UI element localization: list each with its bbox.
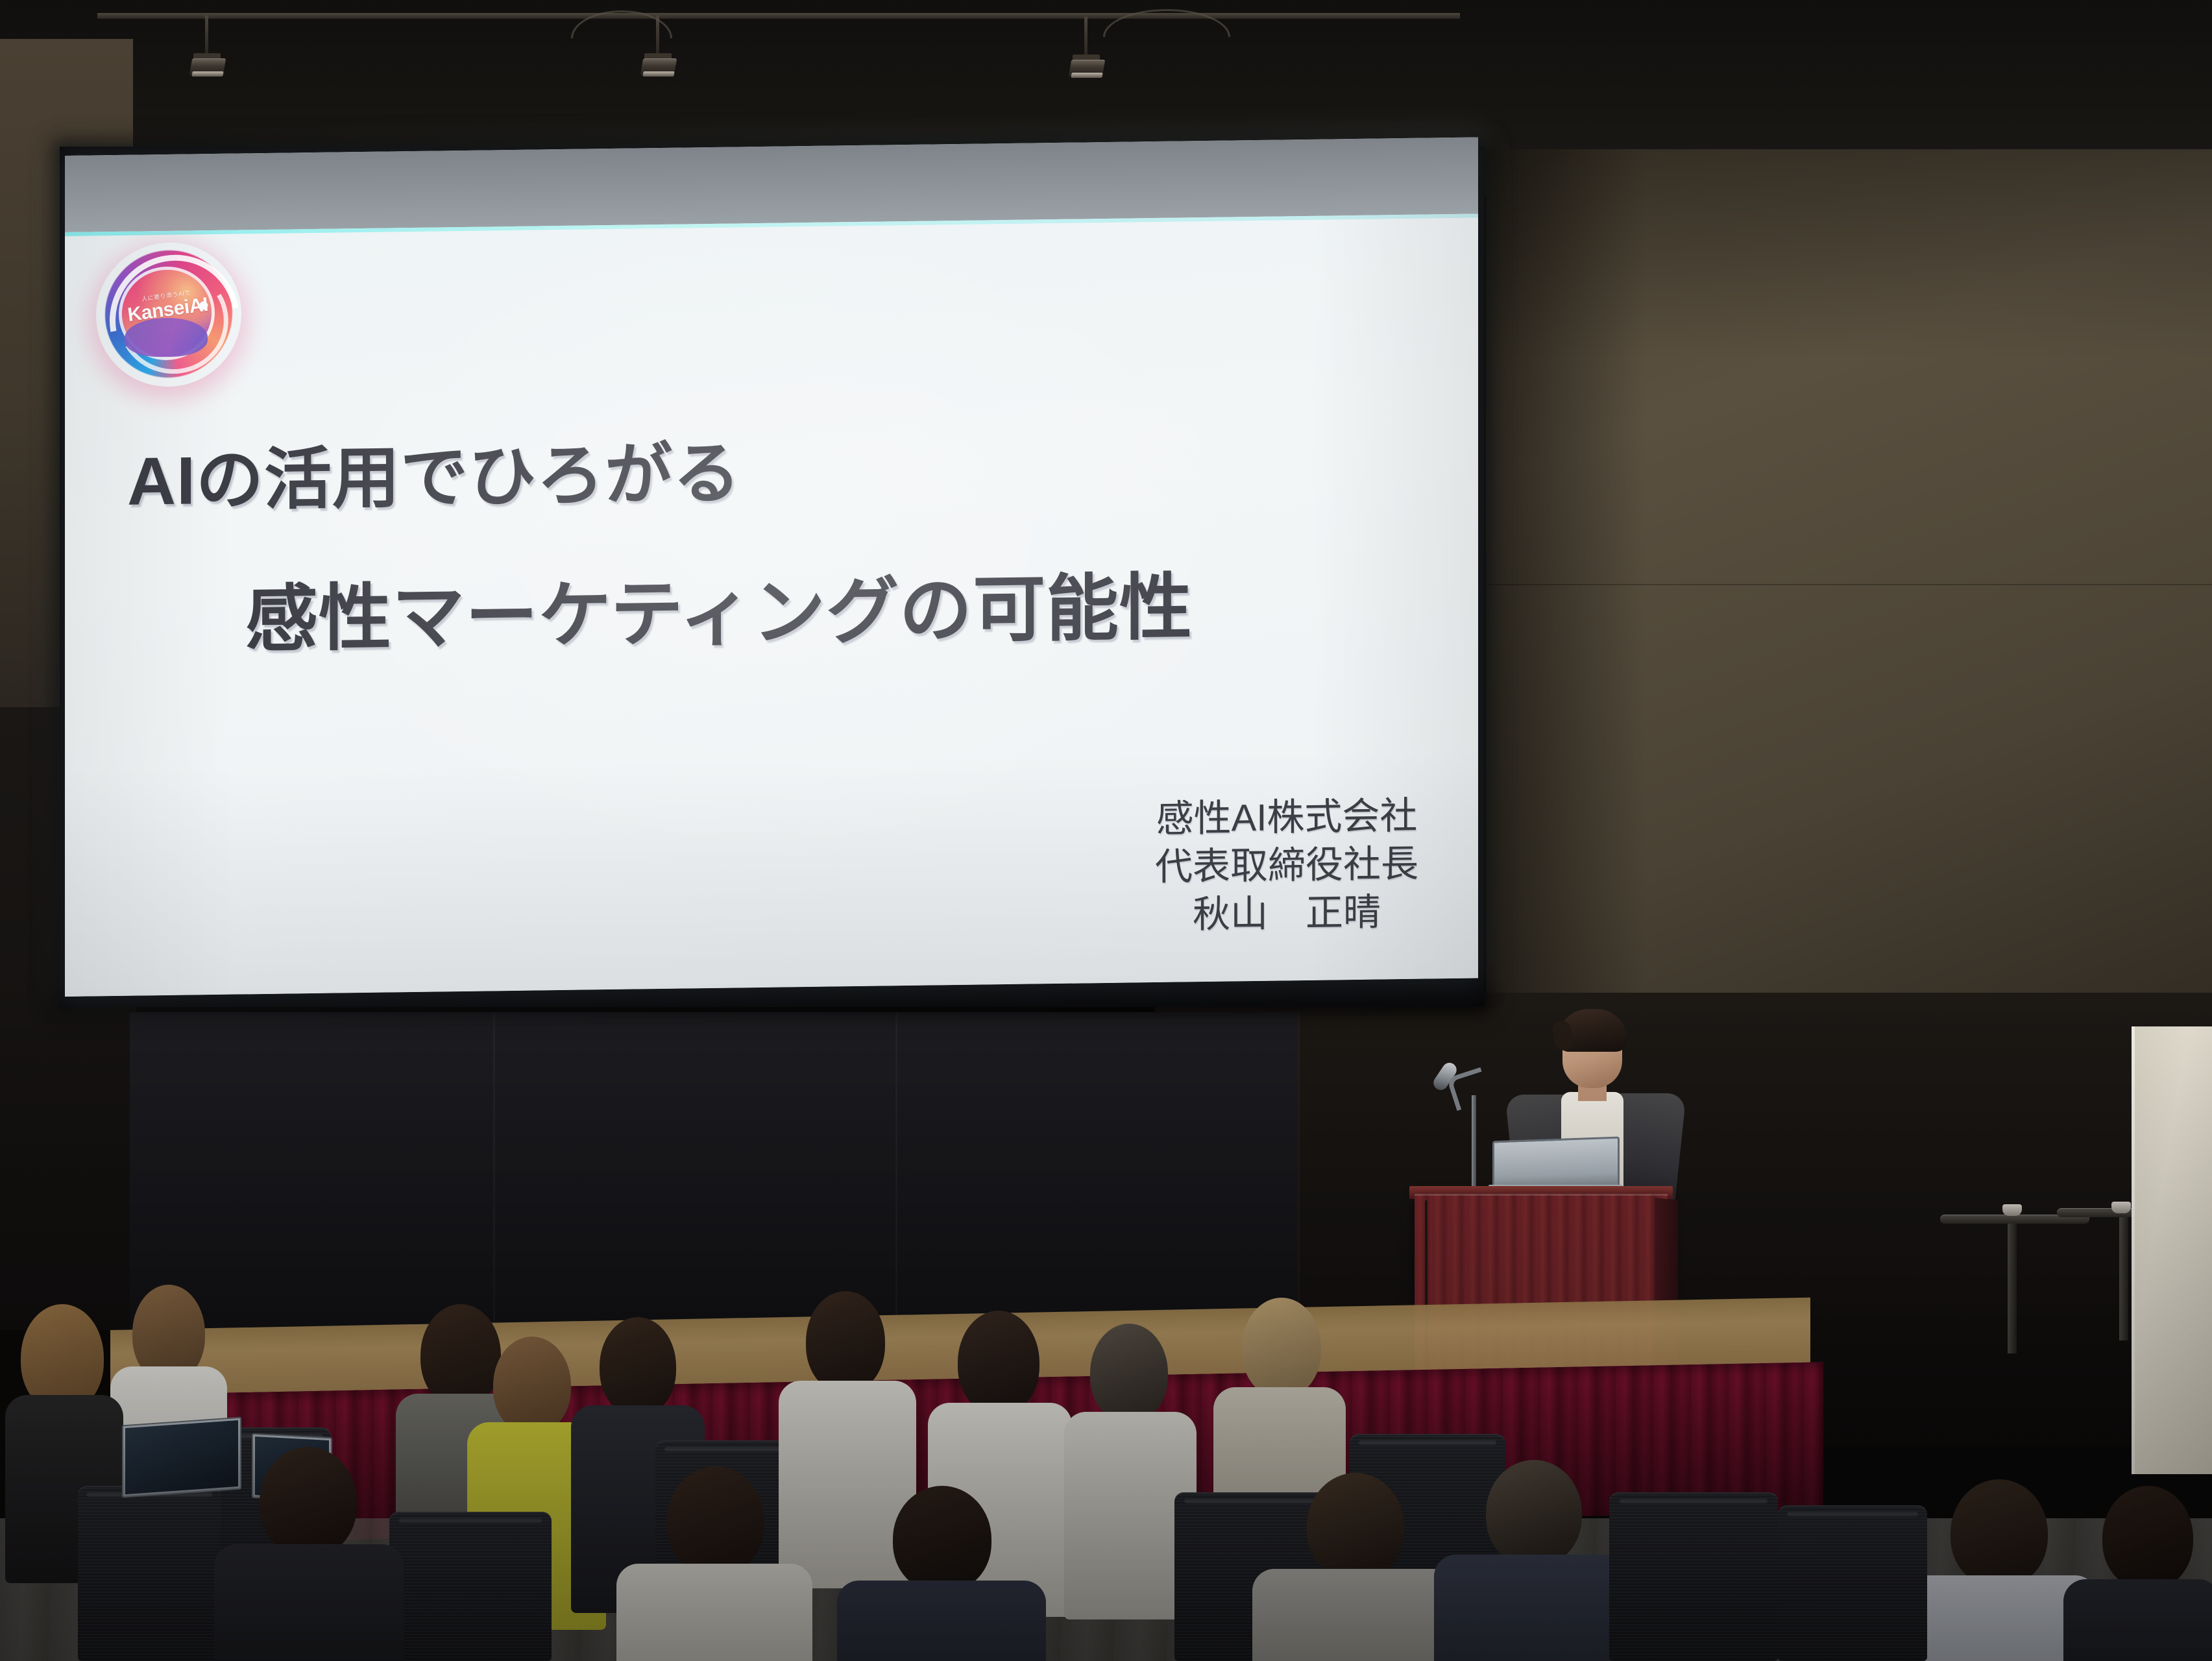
lighting-truss: [97, 13, 1460, 19]
chair: [1778, 1505, 1927, 1661]
wall-seam: [1486, 584, 2212, 585]
mug-icon: [2002, 1204, 2022, 1216]
presentation-slide: 人に寄り添うAIで KanseiAI AIの活用でひろがる 感性マーケティングの…: [65, 213, 1478, 997]
audience-member: [1252, 1473, 1453, 1661]
back-wall-center: [130, 1012, 1298, 1350]
audience-member: [2063, 1486, 2212, 1661]
projection-screen: 人に寄り添うAIで KanseiAI AIの活用でひろがる 感性マーケティングの…: [65, 137, 1478, 997]
white-wall-panel: [2132, 1026, 2212, 1474]
slide-byline: 感性AI株式会社 代表取締役社長 秋山 正晴: [1155, 792, 1418, 940]
mug-icon: [2111, 1202, 2131, 1213]
presentation-scene: 人に寄り添うAIで KanseiAI AIの活用でひろがる 感性マーケティングの…: [0, 0, 2212, 1661]
speaker-hair: [1557, 1009, 1627, 1052]
byline-title: 代表取締役社長: [1155, 840, 1418, 892]
wall-seam: [493, 1012, 495, 1350]
audience-member: [837, 1486, 1045, 1661]
chair: [78, 1486, 221, 1661]
audience-member: [214, 1447, 402, 1661]
byline-name: 秋山 正晴: [1155, 888, 1418, 940]
kansei-ai-logo: 人に寄り添うAIで KanseiAI: [105, 250, 232, 379]
microphone-stand: [1472, 1095, 1476, 1199]
audience-member: [616, 1466, 811, 1661]
slide-title-line-1: AIの活用でひろがる: [127, 418, 741, 524]
chair: [389, 1512, 552, 1661]
byline-company: 感性AI株式会社: [1155, 792, 1418, 844]
chair: [1609, 1492, 1778, 1661]
right-wall-panel: [1486, 149, 2212, 993]
audience-member: [1434, 1460, 1629, 1661]
slide-title-line-2: 感性マーケティングの可能性: [245, 548, 1193, 666]
